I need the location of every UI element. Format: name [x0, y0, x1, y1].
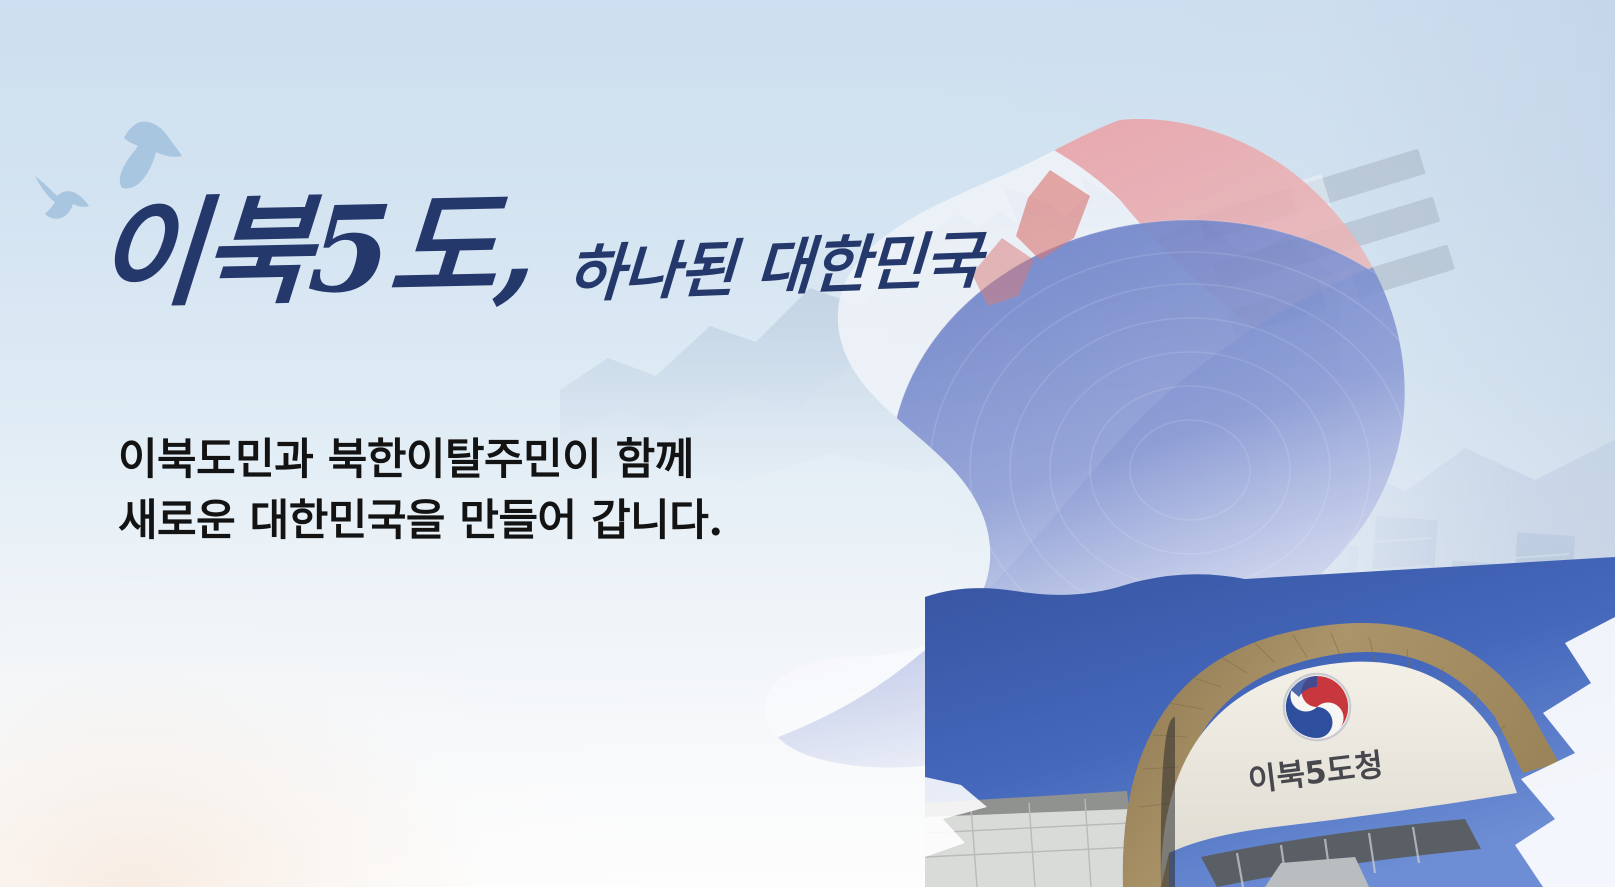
- headline-sub-text: 하나된 대한민국: [565, 230, 982, 306]
- hero-banner: 이북5도청: [0, 0, 1615, 887]
- banner-headline: 이북5도, 하나된 대한민국: [92, 196, 978, 314]
- banner-text-content: 이북5도, 하나된 대한민국 이북도민과 북한이탈주민이 함께 새로운 대한민국…: [0, 0, 1615, 887]
- headline-main-text: 이북5도,: [92, 187, 539, 314]
- subtitle-line-1: 이북도민과 북한이탈주민이 함께: [118, 430, 723, 491]
- banner-subtitle: 이북도민과 북한이탈주민이 함께 새로운 대한민국을 만들어 갑니다.: [118, 430, 723, 552]
- subtitle-line-2: 새로운 대한민국을 만들어 갑니다.: [118, 491, 723, 552]
